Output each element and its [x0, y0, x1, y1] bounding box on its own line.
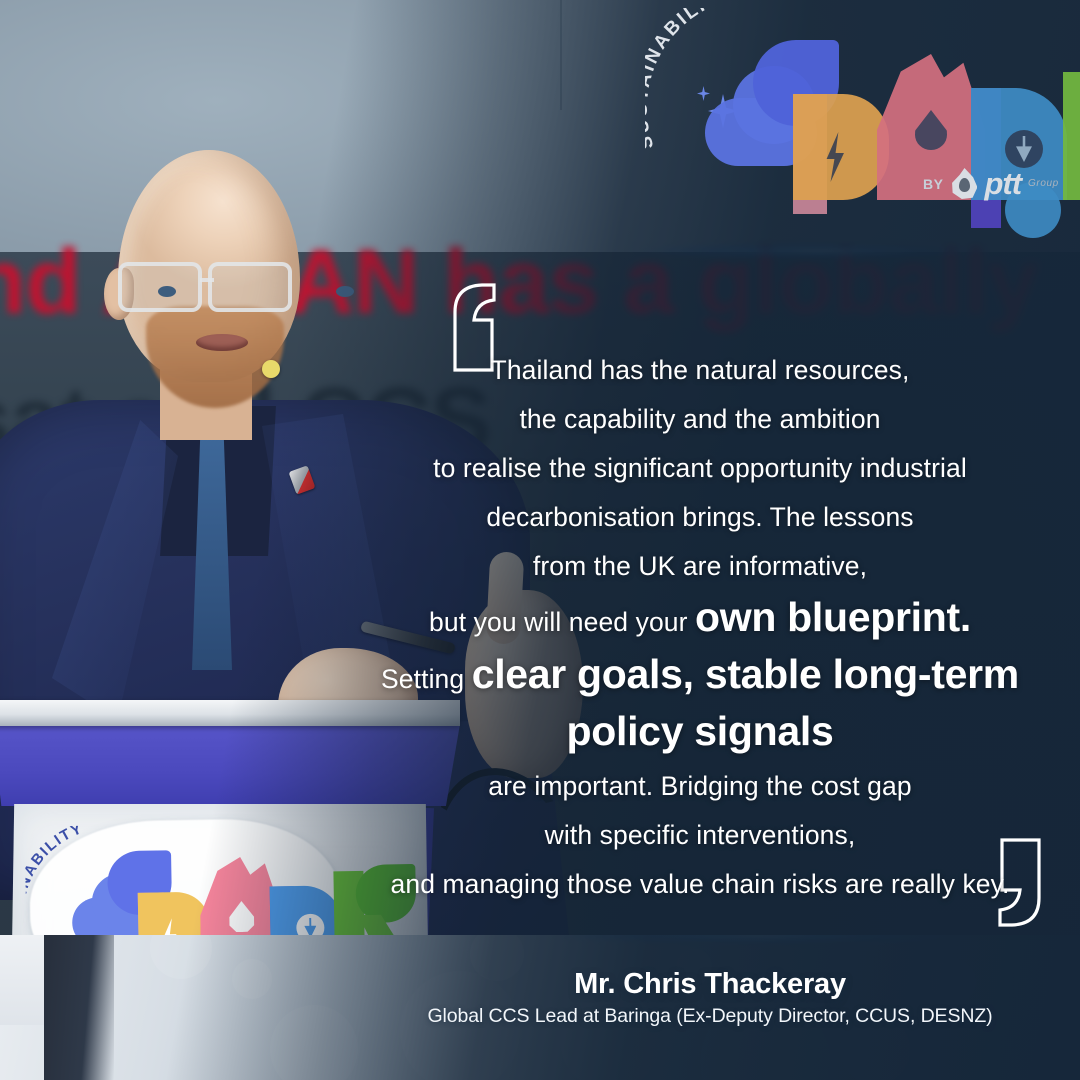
lens-right: [208, 262, 292, 312]
by-label: BY: [923, 176, 943, 192]
bottom-lens-flare: [480, 935, 1040, 947]
stage-wall-seam: [560, 0, 562, 110]
quote-text-block: Thailand has the natural resources, the …: [370, 346, 1030, 909]
speaker-role: Global CCS Lead at Baringa (Ex-Deputy Di…: [380, 1005, 1040, 1028]
lens-flare-top: [560, 238, 1080, 264]
quote-line-6: but you will need your own blueprint.: [370, 591, 1030, 648]
spark-logo: SUSTAINABILITY BY ptt Group: [645, 8, 1065, 208]
quote-line-5: from the UK are informative,: [370, 542, 1030, 591]
by-ptt-lockup: BY ptt Group: [923, 168, 1059, 199]
bokeh-circle: [150, 935, 212, 979]
podium-bottom-edge: [0, 935, 48, 1025]
attribution-block: Mr. Chris Thackeray Global CCS Lead at B…: [380, 968, 1040, 1028]
quote-line-3: to realise the significant opportunity i…: [370, 444, 1030, 493]
quote-line-7-bold: clear goals, stable long-term: [472, 651, 1019, 697]
eyeglasses-icon: [112, 260, 308, 314]
bokeh-circle: [270, 1005, 358, 1080]
lens-left: [118, 262, 202, 312]
letter-p-body: [793, 94, 889, 200]
podium-shadow-edge: [44, 935, 114, 1080]
quote-line-1: Thailand has the natural resources,: [370, 346, 1030, 395]
quote-line-9: are important. Bridging the cost gap: [370, 762, 1030, 811]
bokeh-circle: [232, 959, 272, 999]
quote-line-7-plain: Setting: [381, 664, 472, 694]
ptt-flame-icon: [950, 168, 977, 199]
quote-line-7: Setting clear goals, stable long-term: [370, 648, 1030, 705]
quote-line-11: and managing those value chain risks are…: [370, 860, 1030, 909]
letter-k-stem: [1063, 72, 1080, 200]
quote-card: nd ASEAN has a globally sat and CCS: [0, 0, 1080, 1080]
speaker-name: Mr. Chris Thackeray: [380, 968, 1040, 1001]
quote-line-6-bold: own blueprint.: [695, 594, 971, 640]
eye-left: [158, 286, 176, 297]
ptt-group-label: Group: [1028, 178, 1059, 189]
headset-microphone-icon: [262, 360, 280, 378]
recycle-icon: [1005, 130, 1043, 168]
quote-line-6-plain: but you will need your: [429, 607, 695, 637]
quote-line-10: with specific interventions,: [370, 811, 1030, 860]
quote-line-8: policy signals: [370, 705, 1030, 762]
quote-line-2: the capability and the ambition: [370, 395, 1030, 444]
quote-line-8-bold: policy signals: [567, 708, 834, 754]
quote-line-4: decarbonisation brings. The lessons: [370, 493, 1030, 542]
ptt-wordmark: ptt: [984, 170, 1021, 198]
mouth: [196, 334, 248, 351]
eye-right: [336, 286, 354, 297]
glasses-bridge: [200, 278, 214, 282]
